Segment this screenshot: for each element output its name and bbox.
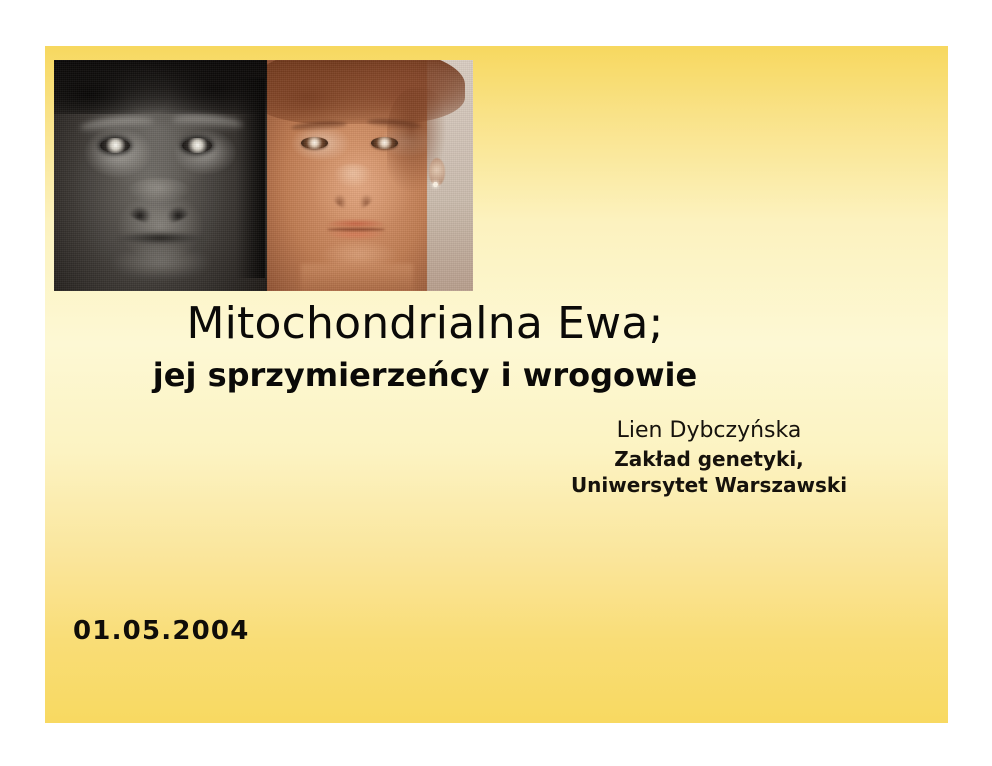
hominid-eye-left [100, 138, 130, 153]
woman-earring [433, 182, 438, 187]
woman-nose [329, 164, 377, 210]
presentation-slide: Mitochondrialna Ewa; jej sprzymierzeńcy … [45, 46, 948, 723]
woman-neck [301, 264, 413, 291]
hominid-brow-right [172, 114, 245, 132]
modern-woman-face-panel [267, 60, 473, 291]
woman-eye-left [301, 137, 328, 149]
composite-face-photo [54, 60, 473, 291]
author-affiliation-line-1: Zakład genetyki, [519, 446, 899, 472]
hominid-side-hair [235, 78, 265, 278]
hominid-eye-right [182, 138, 212, 153]
author-name: Lien Dybczyńska [519, 416, 899, 446]
hominid-nose [122, 178, 196, 224]
author-affiliation-line-2: Uniwersytet Warszawski [519, 472, 899, 498]
slide-date: 01.05.2004 [73, 616, 249, 646]
hominid-chin [102, 248, 220, 290]
hominid-brow-left [80, 115, 155, 134]
woman-eye-right [371, 137, 398, 149]
slide-subtitle: jej sprzymierzeńcy i wrogowie [45, 356, 805, 394]
archaic-hominid-face-panel [54, 60, 267, 291]
slide-title: Mitochondrialna Ewa; [45, 298, 805, 349]
woman-lip-line [327, 228, 385, 231]
author-block: Lien Dybczyńska Zakład genetyki, Uniwers… [519, 416, 899, 498]
hominid-mouth [116, 232, 204, 247]
